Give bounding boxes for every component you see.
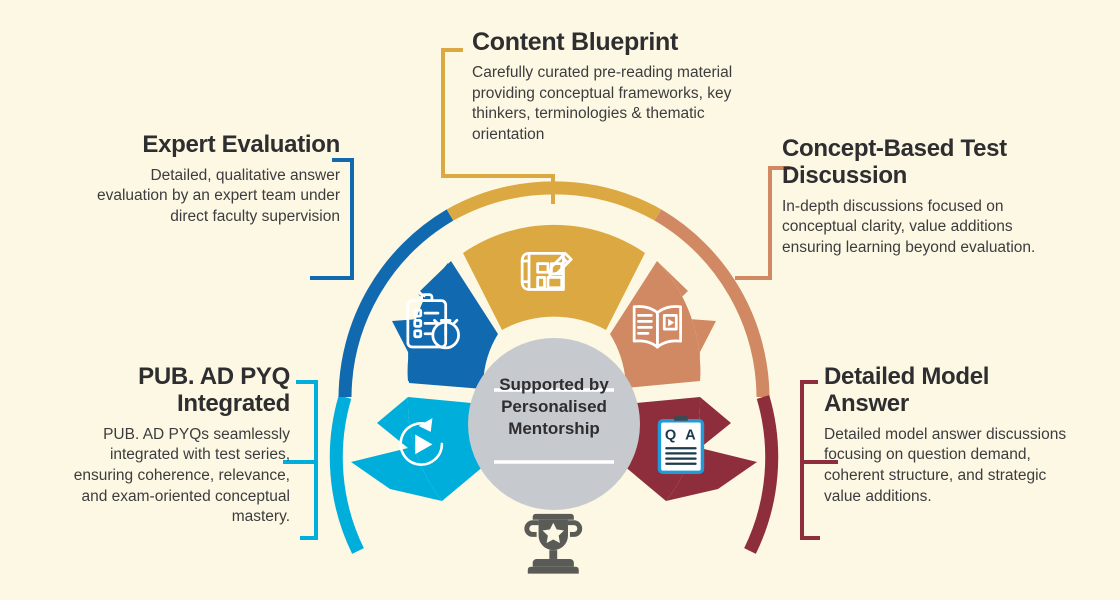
- callout-body-concept-based: In-depth discussions focused on conceptu…: [782, 197, 1042, 259]
- outer-arc-detailed-model: [750, 397, 772, 551]
- hub-circle[interactable]: [468, 338, 640, 510]
- callout-content-blueprint[interactable]: Content Blueprint Carefully curated pre-…: [472, 28, 754, 145]
- callout-title-detailed-model: Detailed Model Answer: [824, 364, 1072, 418]
- callout-expert-evaluation[interactable]: Expert Evaluation Detailed, qualitative …: [92, 132, 340, 228]
- callout-title-pub-ad-pyq: PUB. AD PYQ Integrated: [68, 364, 290, 418]
- callout-title-expert-evaluation: Expert Evaluation: [92, 132, 340, 159]
- callout-body-expert-evaluation: Detailed, qualitative answer evaluation …: [92, 166, 340, 228]
- callout-title-concept-based: Concept-Based Test Discussion: [782, 136, 1042, 190]
- callout-body-content-blueprint: Carefully curated pre-reading material p…: [472, 63, 754, 145]
- callout-title-content-blueprint: Content Blueprint: [472, 28, 754, 56]
- outer-arc-pub-ad-pyq: [336, 397, 358, 551]
- infographic-canvas: Q A: [0, 0, 1120, 600]
- callout-body-detailed-model: Detailed model answer discussions focusi…: [824, 425, 1072, 507]
- callout-body-pub-ad-pyq: PUB. AD PYQs seamlessly integrated with …: [68, 425, 290, 528]
- trophy-icon: [527, 514, 580, 574]
- callout-pub-ad-pyq[interactable]: PUB. AD PYQ Integrated PUB. AD PYQs seam…: [68, 364, 290, 528]
- callout-detailed-model[interactable]: Detailed Model Answer Detailed model ans…: [824, 364, 1072, 507]
- icon-detailed-model: [659, 416, 702, 473]
- callout-concept-based[interactable]: Concept-Based Test Discussion In-depth d…: [782, 136, 1042, 259]
